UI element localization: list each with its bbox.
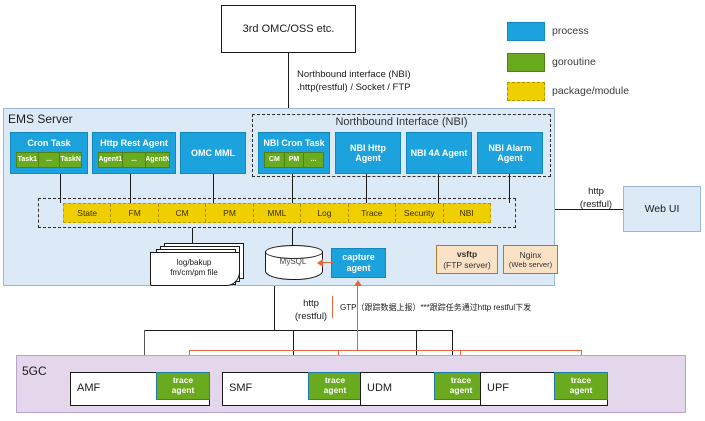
mysql-label: MySQL: [265, 257, 321, 266]
nf-smf[interactable]: SMF trace agent: [222, 372, 362, 406]
connector-capture-to-mysql: [323, 262, 333, 263]
legend-swatch-package-module: [507, 82, 545, 101]
trace-agent-line2: agent: [570, 386, 593, 396]
goroutine-cm: CM: [264, 152, 285, 168]
nf-amf-label: AMF: [77, 382, 100, 394]
arrow-capture-to-mysql: [317, 259, 323, 267]
south-http-line1: http: [285, 298, 337, 311]
goroutine-ellipsis: ...: [122, 152, 147, 168]
goroutine-agentn: AgentN: [145, 152, 170, 168]
goroutine-taskn: TaskN: [59, 152, 82, 168]
file-store-line2: fm/cm/pm file: [170, 268, 218, 278]
gtp-note-caption: GTP（跟踪数据上报）***跟踪任务通过http restful下发: [340, 303, 531, 314]
goroutine-strip-http-rest-agent: Agent1 ... AgentN: [98, 152, 170, 168]
process-nbi-http-agent-label: NBI Http Agent: [336, 143, 400, 164]
goroutine-agent1: Agent1: [98, 152, 123, 168]
module-fm[interactable]: FM: [111, 204, 158, 222]
module-pm[interactable]: PM: [206, 204, 253, 222]
third-party-omc-oss-box: 3rd OMC/OSS etc.: [221, 5, 356, 53]
goroutine-pm: PM: [284, 152, 305, 168]
nf-smf-label: SMF: [229, 382, 252, 394]
gtp-riser-to-capture: [357, 286, 358, 331]
nf-udm-label: UDM: [367, 382, 392, 394]
trace-agent-line2: agent: [450, 386, 473, 396]
trace-agent-amf[interactable]: trace agent: [156, 372, 210, 400]
goroutine-ellipsis: ...: [38, 152, 61, 168]
trace-agent-smf[interactable]: trace agent: [308, 372, 362, 400]
nginx-line1: Nginx: [520, 250, 542, 261]
trace-agent-line2: agent: [324, 386, 347, 396]
gtp-collector-bar: [189, 350, 483, 351]
webui-link-line2: (restful): [570, 199, 622, 212]
module-state[interactable]: State: [64, 204, 111, 222]
vsftp-line1: vsftp: [457, 249, 477, 260]
legend-label-goroutine: goroutine: [552, 56, 596, 68]
process-http-rest-agent-label: Http Rest Agent: [98, 138, 170, 148]
nf-upf-label: UPF: [487, 382, 509, 394]
gtp-note-divider: [332, 296, 333, 318]
third-party-omc-oss-label: 3rd OMC/OSS etc.: [243, 23, 335, 35]
trace-agent-line2: agent: [172, 386, 195, 396]
service-vsftp: vsftp (FTP server): [436, 245, 498, 274]
legend-label-package-module: package/module: [552, 85, 629, 97]
process-cron-task-label: Cron Task: [25, 138, 72, 148]
south-http-caption: http (restful): [285, 298, 337, 324]
nbi-link-line1: Northbound interface (NBI): [297, 69, 411, 82]
goroutine-ellipsis: ...: [303, 152, 324, 168]
process-capture-agent[interactable]: capture agent: [331, 248, 386, 278]
gtp-riser-lower: [357, 330, 358, 350]
nbi-link-caption: Northbound interface (NBI) .http(restful…: [297, 69, 411, 95]
nf-upf[interactable]: UPF trace agent: [480, 372, 608, 406]
webui-link-caption: http (restful): [570, 186, 622, 212]
south-http-line2: (restful): [285, 311, 337, 324]
file-store-line1: log/bakup: [177, 258, 212, 268]
process-nbi-cron-task-label: NBI Cron Task: [261, 138, 326, 148]
service-nginx: Nginx (Web server): [503, 245, 558, 274]
trace-agent-upf[interactable]: trace agent: [554, 372, 608, 400]
process-nbi-http-agent[interactable]: NBI Http Agent: [335, 132, 401, 174]
goroutine-strip-nbi-cron-task: CM PM ...: [264, 152, 324, 168]
module-bar: State FM CM PM MML Log Trace Security NB…: [63, 203, 491, 223]
process-nbi-alarm-agent-label: NBI Alarm Agent: [478, 143, 542, 164]
process-nbi-4a-agent[interactable]: NBI 4A Agent: [406, 132, 472, 174]
legend-swatch-goroutine: [507, 53, 545, 72]
process-nbi-4a-agent-label: NBI 4A Agent: [409, 148, 470, 158]
process-omc-mml-label: OMC MML: [189, 148, 237, 158]
vsftp-line2: (FTP server): [443, 260, 491, 271]
connector-ems-to-5gc-trunk: [274, 286, 275, 330]
gtp-collector-bar-right: [483, 350, 581, 351]
process-nbi-alarm-agent[interactable]: NBI Alarm Agent: [477, 132, 543, 174]
5gc-title: 5GC: [22, 364, 47, 378]
nf-udm[interactable]: UDM trace agent: [360, 372, 488, 406]
nf-amf[interactable]: AMF trace agent: [70, 372, 210, 406]
process-nbi-cron-task[interactable]: NBI Cron Task CM PM ...: [258, 132, 330, 174]
module-cm[interactable]: CM: [159, 204, 206, 222]
file-store-stack: log/bakup fm/cm/pm file: [150, 243, 242, 285]
connector-omc-to-ems: [288, 53, 289, 109]
nbi-group-title: Northbound Interface (NBI): [252, 116, 551, 128]
legend-label-process: process: [552, 25, 589, 37]
nginx-line2: (Web server): [509, 260, 552, 269]
module-log[interactable]: Log: [301, 204, 348, 222]
module-trace[interactable]: Trace: [349, 204, 396, 222]
web-ui-box: Web UI: [623, 186, 701, 232]
process-cron-task[interactable]: Cron Task Task1 ... TaskN: [10, 132, 88, 174]
mysql-database: MySQL: [265, 245, 321, 283]
module-nbi[interactable]: NBI: [444, 204, 490, 222]
ems-server-title: EMS Server: [8, 112, 73, 126]
goroutine-strip-cron-task: Task1 ... TaskN: [16, 152, 82, 168]
capture-agent-line1: capture: [342, 252, 375, 263]
webui-link-line1: http: [570, 186, 622, 199]
connector-modules-to-mysql: [292, 228, 293, 246]
process-omc-mml[interactable]: OMC MML: [180, 132, 246, 174]
module-security[interactable]: Security: [396, 204, 443, 222]
arrow-gtp-to-capture: [354, 280, 362, 286]
nbi-link-line2: .http(restful) / Socket / FTP: [297, 82, 411, 95]
file-store-labels: log/bakup fm/cm/pm file: [150, 252, 238, 284]
module-mml[interactable]: MML: [254, 204, 301, 222]
goroutine-task1: Task1: [16, 152, 39, 168]
legend-swatch-process: [507, 22, 545, 41]
process-http-rest-agent[interactable]: Http Rest Agent Agent1 ... AgentN: [92, 132, 176, 174]
web-ui-label: Web UI: [645, 203, 680, 215]
http-distribution-bar: [144, 330, 452, 331]
capture-agent-line2: agent: [346, 263, 370, 274]
